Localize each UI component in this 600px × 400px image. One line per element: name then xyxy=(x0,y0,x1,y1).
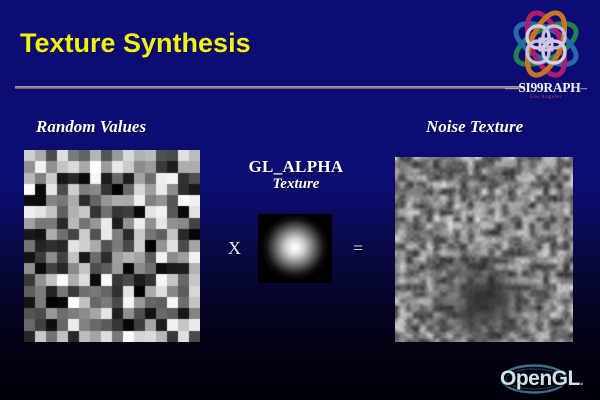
multiply-operator: X xyxy=(228,238,241,259)
caption-random-values: Random Values xyxy=(36,117,146,137)
siggraph-rings-icon xyxy=(509,8,583,80)
opengl-trademark-dot: . xyxy=(580,373,583,388)
alpha-gradient-blob xyxy=(258,214,332,283)
gl-alpha-label: GL_ALPHA Texture xyxy=(238,157,354,193)
random-values-texture xyxy=(24,150,200,342)
gl-alpha-label-line1: GL_ALPHA xyxy=(238,157,354,177)
opengl-wordmark: OpenGL. xyxy=(500,362,596,396)
page-title: Texture Synthesis xyxy=(20,28,251,59)
caption-noise-texture: Noise Texture xyxy=(426,117,523,137)
equals-operator: = xyxy=(353,238,363,259)
gl-alpha-label-line2: Texture xyxy=(238,176,354,193)
wordmark-text: SI99RAPH xyxy=(518,80,580,95)
wordmark-right-dash: – xyxy=(580,80,586,95)
wordmark-left-dash: — xyxy=(505,80,518,95)
opengl-logo: OpenGL. xyxy=(500,362,596,396)
gl-alpha-texture xyxy=(258,214,332,283)
opengl-text-label: OpenGL xyxy=(500,367,580,390)
slide-canvas: Texture Synthesis —SI99RAPH– Los Angeles… xyxy=(0,0,600,400)
noise-texture xyxy=(395,157,573,342)
siggraph-subtitle: Los Angeles xyxy=(497,94,595,100)
title-divider xyxy=(15,86,525,89)
siggraph-logo: —SI99RAPH– Los Angeles xyxy=(497,8,595,104)
